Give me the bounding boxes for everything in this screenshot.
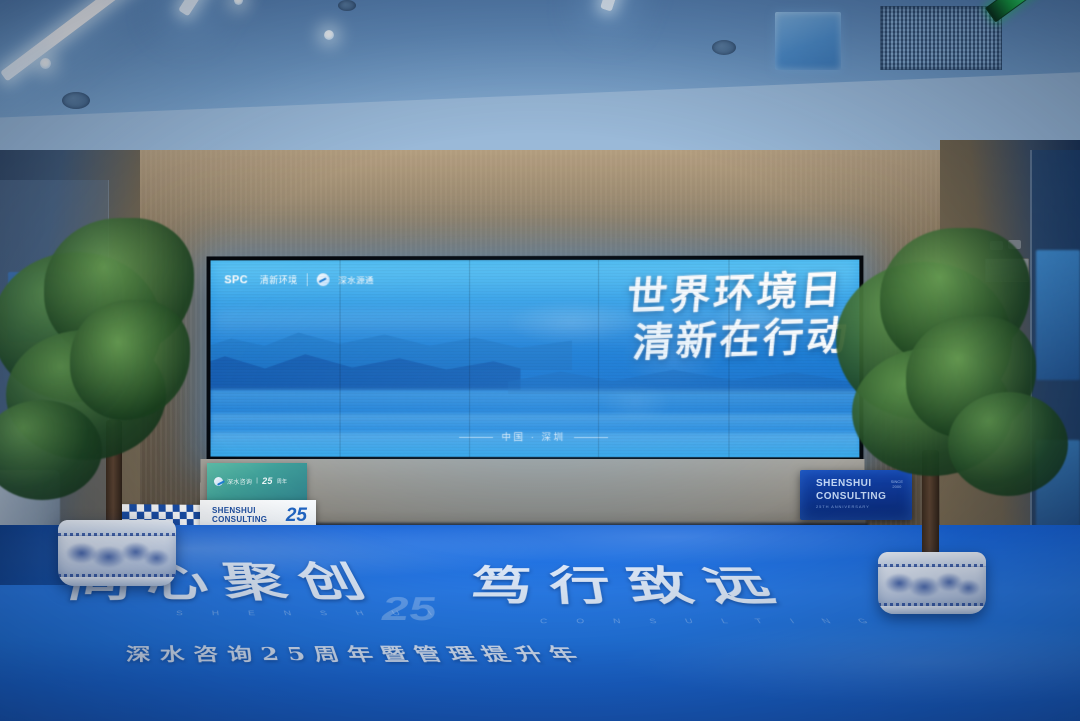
podium-base-anniversary-badge: 25 [286, 506, 307, 525]
spc-logo-text: SPC [224, 274, 248, 286]
ceiling-downlight-1 [40, 58, 51, 69]
podium-swoosh-logo-icon [214, 477, 223, 486]
pot-saucer [58, 577, 176, 586]
right-podium-line-1: SHENSHUI [816, 478, 872, 489]
exit-sign-icon [985, 0, 1047, 23]
panel-seam-2 [469, 260, 470, 457]
skylight-panel-icon [775, 12, 841, 70]
ficus-tree-right-porcelain-pot [878, 552, 986, 614]
ceiling-speaker-2 [712, 40, 736, 55]
right-podium-since-badge: SINCE 2000 [891, 479, 903, 489]
ceiling-downlight-3 [234, 0, 243, 5]
screen-subtitle: 中国 · 深圳 [502, 432, 566, 443]
spc-logo-cn-name: 清新环境 [260, 273, 298, 286]
screen-headline: 世界环境日 清新在行动 [512, 276, 843, 363]
panel-seam-1 [339, 260, 340, 456]
podium-top-anniversary-label: 周年 [277, 478, 288, 485]
logo-divider [307, 273, 308, 286]
center-podium-top[interactable]: 深水咨询 | 25 周年 [207, 463, 307, 501]
ceiling-light-strip-1 [0, 0, 167, 82]
since-year: 2000 [891, 484, 903, 489]
floor-anniversary-badge: 25 [382, 590, 439, 629]
subtitle-rule-left [459, 437, 493, 438]
floor-latin-part-2: C O N S U L T I N G [540, 618, 884, 625]
vent-grille-icon [880, 6, 1002, 70]
right-podium-sign[interactable]: SHENSHUI CONSULTING 25TH ANNIVERSARY SIN… [800, 470, 912, 520]
panel-seam-3 [598, 260, 599, 457]
right-podium-line-2: CONSULTING [816, 491, 886, 502]
podium-top-anniversary-number: 25 [262, 476, 273, 486]
ceiling-speaker-1 [62, 92, 90, 109]
podium-base-line-1: SHENSHUI [212, 506, 256, 515]
secondary-logo-cn-name: 深水源通 [338, 274, 373, 286]
ceiling-speaker-3 [338, 0, 356, 11]
pot-floral-motif [884, 567, 979, 603]
glass-entry-door[interactable] [1030, 150, 1080, 580]
led-video-wall[interactable]: SPC 清新环境 深水源通 世界环境日 清新在行动 中国 · 深圳 [207, 256, 864, 462]
floor-subline: 深水咨询25周年暨管理提升年 [126, 640, 593, 665]
podium-top-company: 深水咨询 [227, 477, 252, 486]
door-reflection-upper [1036, 250, 1080, 380]
ceiling-downlight-2 [324, 30, 334, 40]
event-hall-photo: SPC 清新环境 深水源通 世界环境日 清新在行动 中国 · 深圳 [0, 0, 1080, 721]
right-podium-line-3: 25TH ANNIVERSARY [816, 504, 870, 509]
screen-logo-row: SPC 清新环境 深水源通 [224, 273, 373, 286]
pot-floral-motif [65, 536, 169, 574]
subtitle-rule-right [574, 437, 608, 438]
podium-base-line-2: CONSULTING [212, 515, 267, 524]
ceiling-light-strip-3 [600, 0, 676, 12]
circular-swoosh-logo-icon [317, 273, 330, 286]
headline-line-2: 清新在行动 [510, 315, 852, 369]
screen-subtitle-row: 中国 · 深圳 [210, 429, 859, 444]
floor-slogan-part-2: 笃行致远 [466, 555, 806, 614]
pot-saucer [878, 606, 986, 614]
ficus-tree-left-porcelain-pot [58, 520, 176, 586]
center-podium-top-branding: 深水咨询 | 25 周年 [214, 476, 287, 486]
ceiling-light-strip-2 [178, 0, 330, 17]
panel-seam-4 [729, 260, 730, 458]
podium-top-divider: | [256, 478, 258, 484]
led-screen-surface: SPC 清新环境 深水源通 世界环境日 清新在行动 中国 · 深圳 [210, 260, 859, 458]
ficus-tree-right-foliage-5 [948, 392, 1068, 496]
